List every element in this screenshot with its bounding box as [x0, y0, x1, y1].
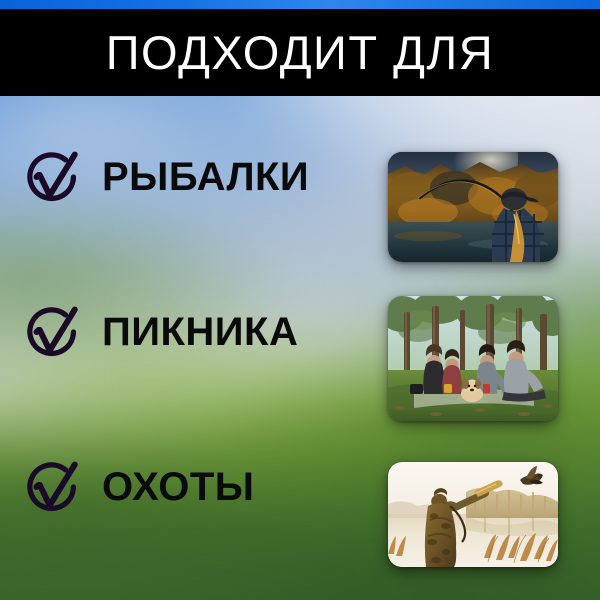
feature-label-hunting: ОХОТЫ: [102, 467, 254, 507]
header-banner: ПОДХОДИТ ДЛЯ: [0, 9, 600, 96]
feature-label-group-hunting: ОХОТЫ: [18, 454, 254, 520]
hunting-photo: [388, 462, 558, 567]
feature-row-picnic: ПИКНИКА: [0, 251, 600, 419]
page-title: ПОДХОДИТ ДЛЯ: [106, 29, 494, 76]
picnic-photo: [388, 296, 558, 421]
feature-list: РЫБАЛКИ: [0, 96, 600, 600]
feature-row-hunting: ОХОТЫ: [0, 406, 600, 574]
poster-root: ПОДХОДИТ ДЛЯ РЫБАЛКИ: [0, 0, 600, 600]
check-circle-icon: [18, 144, 84, 210]
top-accent-strip: [0, 0, 600, 9]
feature-label-group-fishing: РЫБАЛКИ: [18, 144, 309, 210]
feature-label-picnic: ПИКНИКА: [102, 312, 298, 352]
feature-label-fishing: РЫБАЛКИ: [102, 157, 309, 197]
feature-label-group-picnic: ПИКНИКА: [18, 299, 298, 365]
check-circle-icon: [18, 454, 84, 520]
feature-row-fishing: РЫБАЛКИ: [0, 96, 600, 264]
check-circle-icon: [18, 299, 84, 365]
fishing-photo: [388, 152, 558, 262]
